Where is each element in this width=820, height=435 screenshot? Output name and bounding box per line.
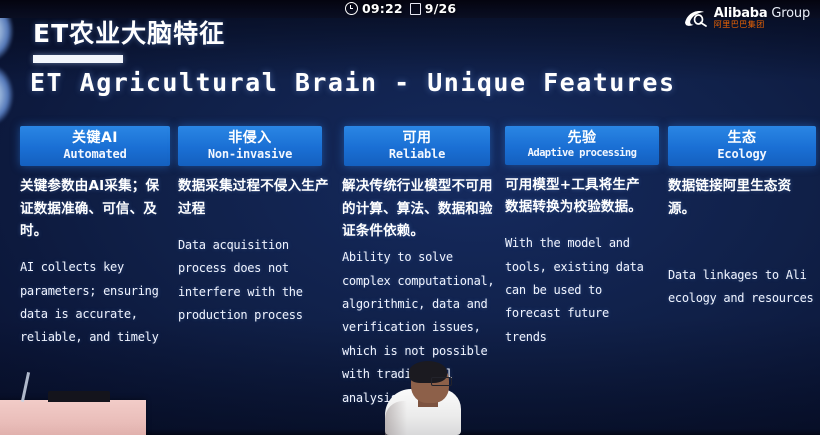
column-header-en: Adaptive processing <box>511 147 653 160</box>
osd-timestamp: 09:22 9/26 <box>345 1 456 16</box>
alibaba-group-logo: Alibaba Group 阿里巴巴集团 <box>684 7 810 29</box>
slide-title-en: ET Agricultural Brain - Unique Features <box>30 68 676 97</box>
column-header-en: Ecology <box>674 147 810 161</box>
column-header-cn: 先验 <box>511 130 653 146</box>
column-body-cn: 可用模型+工具将生产数据转换为校验数据。 <box>505 174 651 219</box>
feature-column-adaptive-processing: 先验 Adaptive processing 可用模型+工具将生产数据转换为校验… <box>505 126 657 349</box>
alibaba-wordmark: Alibaba Group 阿里巴巴集团 <box>714 7 810 29</box>
column-header-adaptive-processing: 先验 Adaptive processing <box>505 126 659 165</box>
column-body-cn: 数据采集过程不侵入生产过程 <box>178 175 334 220</box>
column-header-cn: 非侵入 <box>184 130 316 146</box>
column-body-cn: 解决传统行业模型不可用的计算、算法、数据和验证条件依赖。 <box>342 175 500 242</box>
feature-column-automated: 关键AI Automated 关键参数由AI采集；保证数据准确、可信、及时。 A… <box>20 126 172 350</box>
column-header-automated: 关键AI Automated <box>20 126 170 166</box>
column-body-en: Data linkages to Ali ecology and resourc… <box>668 264 818 311</box>
column-header-reliable: 可用 Reliable <box>344 126 490 166</box>
column-header-cn: 生态 <box>674 130 810 146</box>
laptop-icon <box>48 391 110 402</box>
column-header-ecology: 生态 Ecology <box>668 126 816 166</box>
brand-name: Alibaba <box>714 6 768 21</box>
alibaba-swoosh-icon <box>684 8 709 28</box>
clock-icon <box>345 2 358 15</box>
column-body-cn: 数据链接阿里生态资源。 <box>668 175 814 220</box>
brand-name-cn: 阿里巴巴集团 <box>714 21 810 29</box>
column-header-non-invasive: 非侵入 Non-invasive <box>178 126 322 166</box>
feature-column-ecology: 生态 Ecology 数据链接阿里生态资源。 Data linkages to … <box>668 126 814 311</box>
column-header-cn: 关键AI <box>26 130 164 146</box>
column-body-en: AI collects key parameters; ensuring dat… <box>20 256 172 350</box>
title-underline-rule <box>33 55 123 63</box>
brand-suffix: Group <box>767 6 810 21</box>
slide-title-cn: ET农业大脑特征 <box>33 14 225 50</box>
column-body-en: Data acquisition process does not interf… <box>178 234 334 328</box>
osd-date: 9/26 <box>425 1 456 16</box>
column-header-en: Non-invasive <box>184 147 316 161</box>
screenshot-root: ET农业大脑特征 ET Agricultural Brain - Unique … <box>0 0 820 435</box>
calendar-icon <box>410 3 421 15</box>
brand-name-row: Alibaba Group <box>714 7 810 20</box>
column-header-en: Automated <box>26 147 164 161</box>
column-header-cn: 可用 <box>350 130 484 146</box>
osd-time: 09:22 <box>362 1 403 16</box>
column-body-en: With the model and tools, existing data … <box>505 232 657 349</box>
glasses-icon <box>431 377 452 386</box>
podium <box>0 400 146 435</box>
column-header-en: Reliable <box>350 147 484 161</box>
feature-column-non-invasive: 非侵入 Non-invasive 数据采集过程不侵入生产过程 Data acqu… <box>178 126 334 328</box>
column-body-cn: 关键参数由AI采集；保证数据准确、可信、及时。 <box>20 175 172 242</box>
presenter-silhouette <box>385 361 471 435</box>
